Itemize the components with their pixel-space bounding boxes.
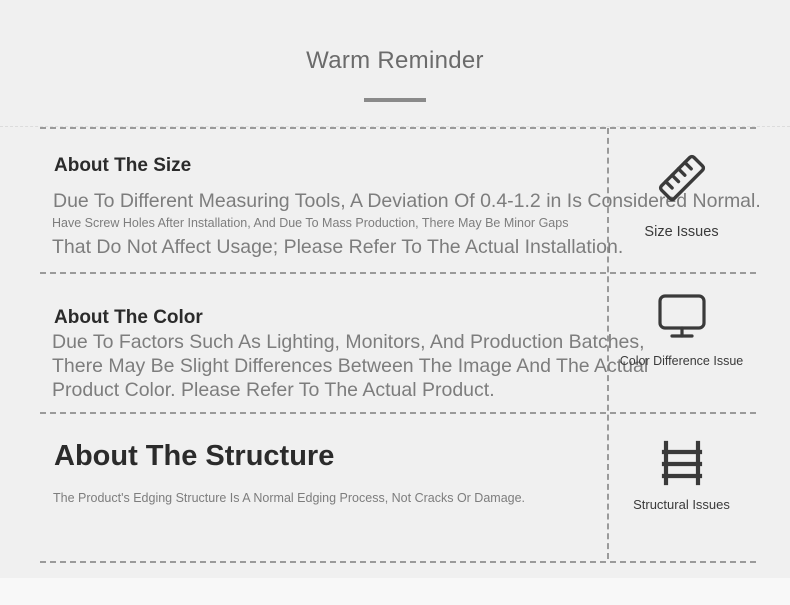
row-heading: About The Color — [54, 306, 203, 330]
page-header: Warm Reminder — [0, 0, 790, 102]
monitor-icon — [607, 288, 756, 346]
row-icon-column: Size Issues — [607, 129, 756, 274]
row-icon-column: Color Difference Issue — [607, 274, 756, 414]
row-body-line: That Do Not Affect Usage; Please Refer T… — [52, 235, 623, 259]
row-body-line: There May Be Slight Differences Between … — [52, 354, 648, 378]
row-body-line: Have Screw Holes After Installation, And… — [52, 214, 568, 232]
row-text-column: About The Size Due To Different Measurin… — [40, 129, 607, 274]
row-body-line: The Product's Edging Structure Is A Norm… — [53, 489, 525, 507]
ruler-icon — [607, 147, 756, 209]
row-body-line: Due To Factors Such As Lighting, Monitor… — [52, 330, 645, 354]
icon-label: Size Issues — [607, 224, 756, 240]
row-text-column: About The Structure The Product's Edging… — [40, 414, 607, 561]
title-underline-bar — [364, 98, 426, 102]
icon-label: Color Difference Issue — [607, 354, 756, 368]
reminder-table: About The Size Due To Different Measurin… — [40, 127, 756, 559]
shelf-ladder-icon — [607, 438, 756, 488]
row-heading: About The Structure — [54, 437, 334, 475]
row-text-column: About The Color Due To Factors Such As L… — [40, 274, 607, 414]
table-row: About The Color Due To Factors Such As L… — [40, 272, 756, 414]
page-background-bottom-strip — [0, 578, 790, 605]
row-icon-column: Structural Issues — [607, 414, 756, 561]
row-heading: About The Size — [54, 154, 191, 178]
table-row: About The Size Due To Different Measurin… — [40, 127, 756, 274]
table-row: About The Structure The Product's Edging… — [40, 412, 756, 563]
icon-label: Structural Issues — [607, 497, 756, 512]
page-title: Warm Reminder — [0, 0, 790, 78]
reminder-page: Warm Reminder About The Size Due To Diff… — [0, 0, 790, 605]
row-body-line: Product Color. Please Refer To The Actua… — [52, 378, 495, 402]
